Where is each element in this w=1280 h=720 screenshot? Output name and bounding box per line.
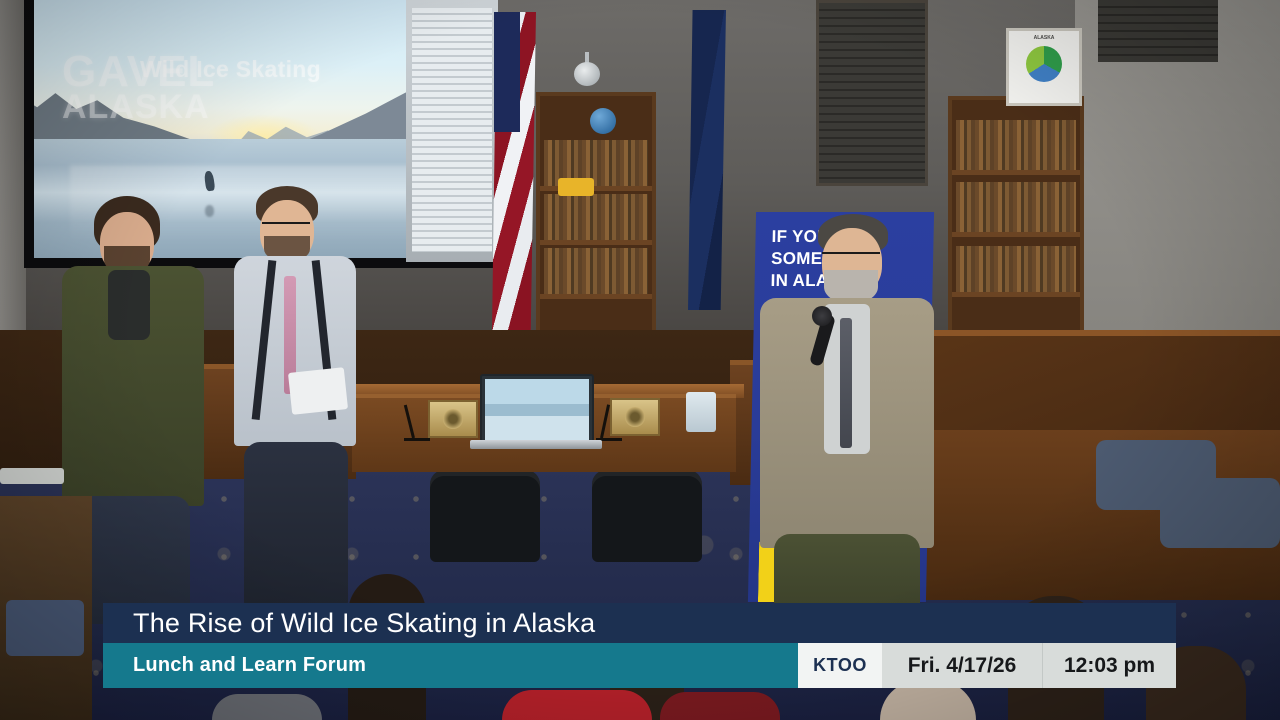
speaker-glasses	[822, 252, 880, 261]
ceiling-camera-icon	[572, 52, 602, 88]
presenter-center-papers	[288, 367, 348, 415]
lower-third-title-bar: The Rise of Wild Ice Skating in Alaska	[103, 603, 1176, 643]
laptop-keyboard-base	[470, 440, 602, 449]
bookshelf-row	[956, 246, 1076, 292]
books	[544, 248, 648, 294]
laptop-screen	[485, 379, 589, 441]
us-flag-canton	[494, 12, 520, 132]
window-blinds-right	[1098, 0, 1218, 62]
books	[956, 120, 1076, 170]
books	[956, 182, 1076, 232]
books	[956, 246, 1076, 292]
watermark-line-2: ALASKA	[62, 92, 215, 123]
dais-microphone-arm-left	[404, 438, 430, 441]
audience-head	[660, 692, 780, 720]
bookshelf-row	[956, 182, 1076, 232]
toy-school-bus-icon	[558, 178, 594, 196]
broadcast-date: Fri. 4/17/26	[908, 654, 1017, 678]
program-subtitle: Lunch and Learn Forum	[103, 654, 366, 677]
shelf-plank	[540, 186, 652, 191]
window-pane	[412, 8, 492, 252]
lower-third-info-panels: KTOO Fri. 4/17/26 12:03 pm	[798, 643, 1176, 688]
gallery-chair	[1160, 478, 1280, 548]
recycling-poster: ALASKA	[1006, 28, 1082, 106]
shelf-plank	[540, 294, 652, 299]
nameplate-seal	[443, 409, 463, 429]
time-panel: 12:03 pm	[1042, 643, 1176, 688]
broadcast-frame: GAVEL ALASKA Wild Ice Skating	[0, 0, 1280, 720]
tissue-box-icon	[686, 392, 716, 432]
presenter-left-shirt	[108, 270, 150, 340]
window-blinds-center	[816, 0, 928, 186]
program-title: The Rise of Wild Ice Skating in Alaska	[103, 608, 595, 639]
foreground-chair-seat	[6, 600, 84, 656]
presenter-center	[232, 186, 362, 606]
microphone-head	[812, 306, 832, 326]
broadcast-time: 12:03 pm	[1064, 654, 1155, 678]
presenter-center-glasses	[262, 222, 310, 231]
station-callsign: KTOO	[813, 655, 867, 676]
shelf-plank	[952, 232, 1080, 237]
speaker-tie	[840, 318, 852, 448]
arched-window	[406, 0, 498, 262]
speaker-with-microphone	[760, 214, 940, 614]
desk-globe-icon	[590, 108, 616, 134]
audience-head	[212, 694, 322, 720]
shelf-plank	[952, 170, 1080, 175]
bookshelf-row	[544, 248, 648, 294]
slide-title-text: Wild Ice Skating	[140, 56, 321, 83]
nameplate-right	[610, 398, 660, 436]
lower-third-graphic: The Rise of Wild Ice Skating in Alaska L…	[103, 603, 1176, 688]
alaska-state-flag	[688, 10, 726, 310]
bookshelf-row	[956, 120, 1076, 170]
bookshelf-row	[544, 194, 648, 240]
presenter-center-trousers	[244, 442, 348, 606]
presenter-laptop	[480, 374, 594, 446]
date-panel: Fri. 4/17/26	[882, 643, 1042, 688]
nameplate-seal	[625, 407, 645, 427]
recycling-logo-icon	[1026, 46, 1062, 82]
wall-column-left	[0, 0, 26, 340]
station-logo-panel: KTOO	[798, 643, 882, 688]
poster-caption: ALASKA	[1009, 35, 1079, 41]
audience-head	[502, 690, 652, 720]
shelf-plank	[540, 240, 652, 245]
dais-chair	[430, 470, 540, 562]
nameplate-left	[428, 400, 478, 438]
dais-chair	[592, 470, 702, 562]
books	[544, 194, 648, 240]
shelf-plank	[952, 292, 1080, 297]
camera-dome	[574, 62, 600, 86]
side-table	[0, 468, 64, 484]
